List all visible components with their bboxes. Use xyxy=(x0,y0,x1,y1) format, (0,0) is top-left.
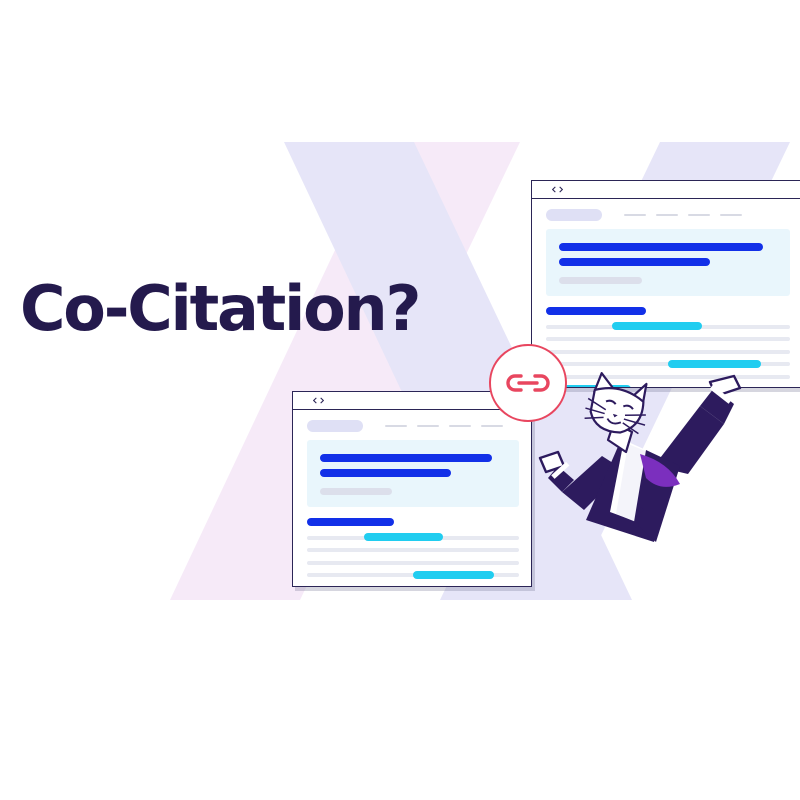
nav-dash[interactable] xyxy=(449,425,471,428)
hero-headline-bar xyxy=(559,243,763,251)
content-lines-bottom xyxy=(307,518,519,587)
citation-highlight xyxy=(413,571,494,579)
text-line-grey xyxy=(307,586,519,588)
site-nav-placeholder[interactable] xyxy=(385,425,503,428)
nav-forward-icon[interactable] xyxy=(320,397,324,404)
hero-placeholder-bar xyxy=(559,277,642,284)
text-line xyxy=(307,533,519,542)
site-nav-placeholder[interactable] xyxy=(624,214,742,217)
nav-dash[interactable] xyxy=(720,214,742,217)
section-lead-bar xyxy=(307,518,394,526)
site-logo-placeholder[interactable] xyxy=(546,209,602,221)
nav-back-icon[interactable] xyxy=(313,397,317,404)
hero-headline-bar xyxy=(320,454,492,462)
citation-highlight xyxy=(668,360,761,368)
text-line xyxy=(307,558,519,567)
text-line xyxy=(307,583,519,587)
hero-subheadline-bar xyxy=(559,258,710,266)
window-titlebar-top xyxy=(532,181,800,199)
text-line-grey xyxy=(307,561,519,565)
nav-dash[interactable] xyxy=(385,425,407,428)
section-lead-bar xyxy=(546,307,646,315)
hero-placeholder-bar xyxy=(320,488,392,495)
citation-highlight xyxy=(364,533,442,541)
site-header-top xyxy=(532,199,800,221)
window-body-top xyxy=(532,199,800,388)
nav-back-icon[interactable] xyxy=(552,186,556,193)
nav-dash[interactable] xyxy=(688,214,710,217)
titlebar-nav-controls[interactable] xyxy=(552,186,563,193)
cat-button xyxy=(639,508,644,513)
nav-dash[interactable] xyxy=(417,425,439,428)
text-line xyxy=(307,546,519,555)
cat-button xyxy=(634,523,639,528)
text-line-grey xyxy=(546,350,790,354)
nav-forward-icon[interactable] xyxy=(559,186,563,193)
text-line xyxy=(546,322,790,331)
hero-subheadline-bar xyxy=(320,469,451,477)
illustration-canvas: Co-Citation? xyxy=(0,0,800,800)
link-badge[interactable] xyxy=(487,342,569,424)
citation-highlight xyxy=(612,322,702,330)
text-line xyxy=(307,571,519,580)
hero-panel-top xyxy=(546,229,790,296)
site-logo-placeholder[interactable] xyxy=(307,420,363,432)
cat-right-hand xyxy=(710,376,740,396)
section-lead-bar-row xyxy=(546,307,790,317)
nav-dash[interactable] xyxy=(656,214,678,217)
text-line-grey xyxy=(307,548,519,552)
titlebar-nav-controls[interactable] xyxy=(313,397,324,404)
text-line xyxy=(546,360,790,369)
nav-dash[interactable] xyxy=(624,214,646,217)
text-line xyxy=(546,335,790,344)
page-title: Co-Citation? xyxy=(20,278,419,340)
nav-dash[interactable] xyxy=(481,425,503,428)
hero-panel-bottom xyxy=(307,440,519,507)
section-lead-bar-row xyxy=(307,518,519,528)
text-line xyxy=(546,347,790,356)
browser-window-top[interactable] xyxy=(531,180,800,388)
window-body-bottom xyxy=(293,410,531,587)
text-line-grey xyxy=(546,337,790,341)
